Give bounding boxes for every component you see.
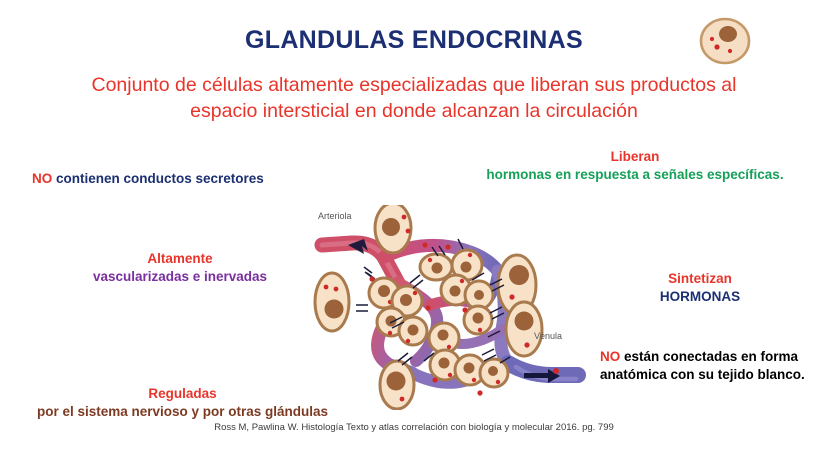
subtitle-line-2: espacio intersticial en donde alcanzan l… [64, 98, 764, 124]
callout-no-conectadas-emphasis: NO [600, 349, 620, 364]
callout-no-conectadas: NO están conectadas en forma anatómica c… [600, 348, 815, 384]
callout-sintetizan: Sintetizan HORMONAS [600, 270, 800, 306]
callout-sintetizan-line-1: Sintetizan [600, 270, 800, 288]
callout-reguladas-line-1: Reguladas [30, 385, 335, 403]
callout-no-conductos-text: contienen conductos secretores [52, 171, 264, 186]
callout-no-conductos-emphasis: NO [32, 171, 52, 186]
label-arteriole: Arteriola [318, 211, 352, 221]
callout-sintetizan-line-2: HORMONAS [600, 288, 800, 306]
slide-canvas: GLANDULAS ENDOCRINAS Conjunto de células… [0, 0, 828, 466]
callout-liberan-line-1: Liberan [470, 148, 800, 166]
citation: Ross M, Pawlina W. Histología Texto y at… [0, 422, 828, 433]
callout-reguladas: Reguladas por el sistema nervioso y por … [30, 385, 335, 421]
callout-altamente: Altamente vascularizadas e inervadas [55, 250, 305, 286]
callout-altamente-line-1: Altamente [55, 250, 305, 268]
callout-reguladas-line-2: por el sistema nervioso y por otras glán… [30, 403, 335, 421]
callout-no-conectadas-line-1: están conectadas en forma [620, 349, 798, 364]
subtitle-line-1: Conjunto de células altamente especializ… [64, 72, 764, 98]
callout-liberan: Liberan hormonas en respuesta a señales … [470, 148, 800, 184]
callout-altamente-line-2: vascularizadas e inervadas [55, 268, 305, 286]
endocrine-gland-capillary-diagram: Arteriola Vénula [312, 205, 588, 410]
callout-no-conectadas-line-2: anatómica con su tejido blanco. [600, 366, 815, 384]
page-subtitle: Conjunto de células altamente especializ… [64, 72, 764, 125]
callout-no-conductos: NO contienen conductos secretores [32, 170, 332, 188]
callout-liberan-line-2: hormonas en respuesta a señales específi… [470, 166, 800, 184]
label-venule: Vénula [534, 331, 562, 341]
endocrine-cell-icon [699, 17, 751, 65]
